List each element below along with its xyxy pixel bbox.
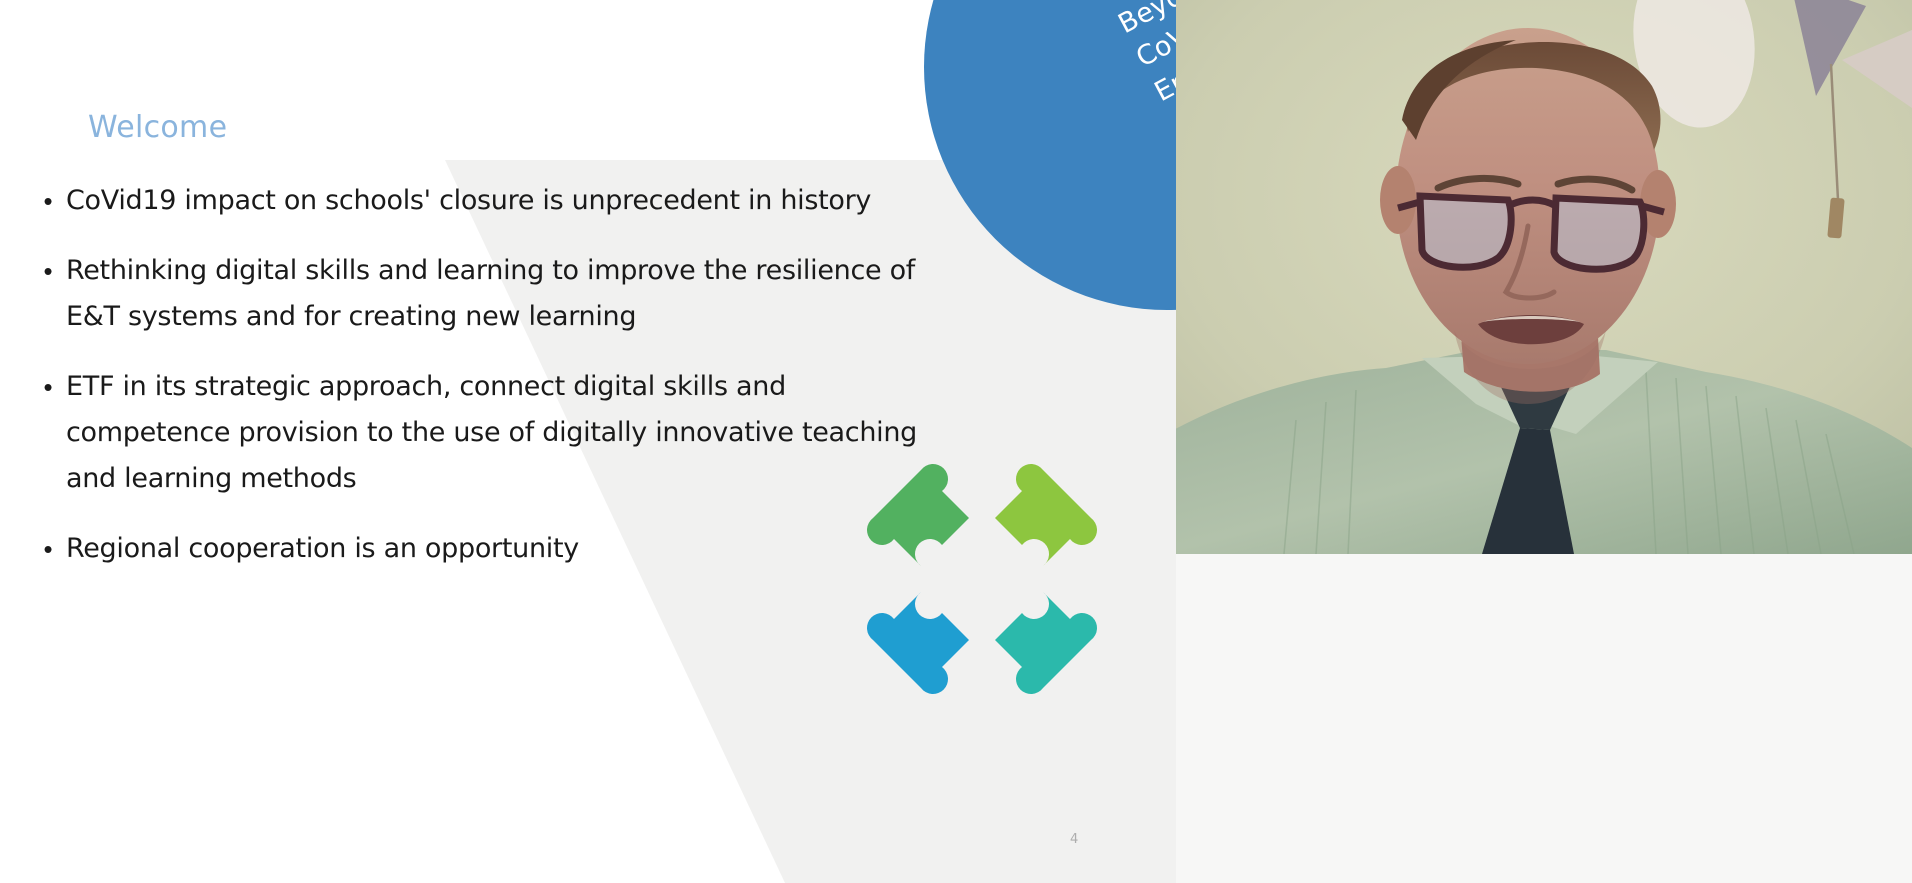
list-item: • ETF in its strategic approach, connect…	[30, 364, 960, 502]
bullet-marker-icon: •	[30, 364, 66, 410]
presentation-screen: Beyond CoVid19 Emergency Welcome • CoVid…	[0, 0, 1912, 883]
slide-title: Welcome	[88, 110, 227, 145]
puzzle-pieces-logo-icon	[855, 440, 1115, 730]
slide-number: 4	[1070, 832, 1078, 847]
puzzle-piece-bottom-right	[995, 592, 1097, 694]
bullet-list: • CoVid19 impact on schools' closure is …	[30, 178, 960, 596]
puzzle-piece-top-left	[867, 464, 969, 566]
puzzle-piece-top-right	[995, 464, 1097, 566]
video-panel	[1176, 0, 1912, 883]
ear	[1380, 166, 1416, 234]
list-item: • Rethinking digital skills and learning…	[30, 248, 960, 340]
list-item-text: ETF in its strategic approach, connect d…	[66, 364, 960, 502]
list-item-text: Regional cooperation is an opportunity	[66, 526, 960, 572]
slide-canvas: Beyond CoVid19 Emergency Welcome • CoVid…	[0, 0, 1176, 883]
webcam-frame	[1176, 0, 1912, 554]
list-item: • Regional cooperation is an opportunity	[30, 526, 960, 572]
webcam-video-tile[interactable]	[1176, 0, 1912, 554]
list-item-text: Rethinking digital skills and learning t…	[66, 248, 960, 340]
puzzle-piece-bottom-left	[867, 592, 969, 694]
badge-label: Beyond CoVid19 Emergency	[1112, 0, 1176, 112]
bullet-marker-icon: •	[30, 248, 66, 294]
list-item: • CoVid19 impact on schools' closure is …	[30, 178, 960, 224]
bullet-marker-icon: •	[30, 178, 66, 224]
list-item-text: CoVid19 impact on schools' closure is un…	[66, 178, 960, 224]
bullet-marker-icon: •	[30, 526, 66, 572]
